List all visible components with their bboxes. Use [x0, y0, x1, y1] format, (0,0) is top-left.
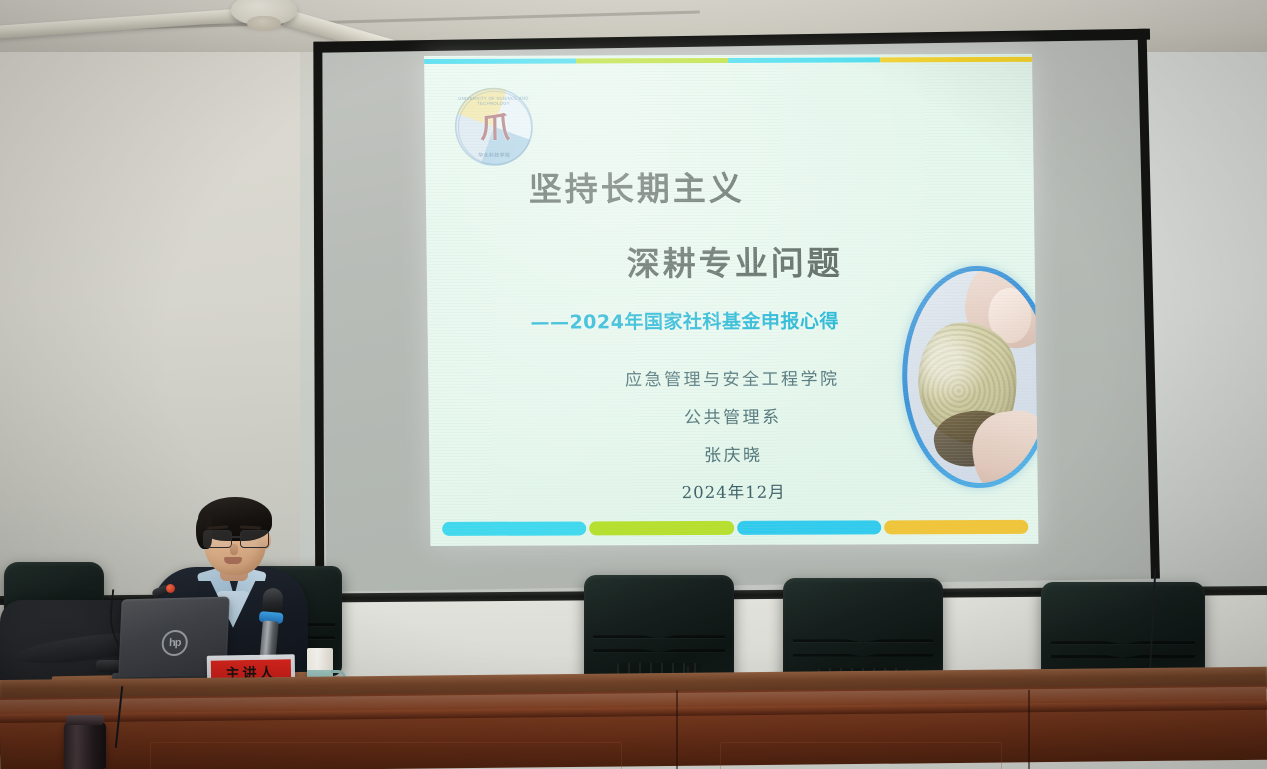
slide-bottom-color-bar [442, 520, 1028, 536]
slide-top-color-bar [424, 57, 1032, 64]
slide-title-line-1: 坚持长期主义 [528, 162, 745, 211]
top-bar-segment-4 [880, 57, 1032, 63]
fan-hub-lower [247, 16, 281, 31]
bottom-bar-segment-2 [589, 521, 733, 536]
bottom-bar-segment-4 [884, 520, 1028, 535]
top-bar-segment-3 [728, 57, 880, 63]
glasses-lens-left [203, 530, 232, 548]
top-bar-segment-1 [424, 58, 576, 64]
presenter-nose [230, 544, 238, 555]
top-bar-segment-2 [576, 58, 728, 64]
chair-stitch [1051, 641, 1195, 644]
presenter-mouth [224, 557, 242, 564]
bottom-bar-segment-1 [442, 521, 586, 536]
chair-stitch [793, 654, 934, 657]
bottom-bar-segment-3 [737, 520, 881, 535]
slide-info-presenter: 张庆晓 [429, 440, 1037, 467]
lecture-hall-photo: UNIVERSITY OF SCIENCE AND TECHNOLOGY 爪 华… [0, 0, 1267, 769]
table-panel [720, 742, 1002, 769]
table-panel [150, 742, 622, 769]
glasses-bridge [231, 536, 240, 538]
glasses-lens-right [240, 530, 269, 548]
table-seam [676, 690, 678, 769]
thermos-cap [66, 715, 104, 725]
projected-slide: UNIVERSITY OF SCIENCE AND TECHNOLOGY 爪 华… [424, 54, 1038, 546]
screen-border-left [313, 42, 324, 587]
hp-logo-icon: hp [161, 630, 188, 657]
logo-character: 爪 [480, 102, 509, 146]
university-logo: UNIVERSITY OF SCIENCE AND TECHNOLOGY 爪 华… [454, 88, 533, 166]
slide-info-department: 公共管理系 [429, 402, 1037, 429]
logo-arc-bottom-text: 华北科技学院 [455, 152, 533, 159]
chair-stitch [593, 635, 725, 638]
slide-info-college: 应急管理与安全工程学院 [428, 364, 1036, 391]
chair-stitch [1051, 655, 1195, 658]
slide-subtitle: ——2024年国家社科基金申报心得 [530, 307, 839, 335]
table-seam [1028, 690, 1030, 769]
thermos-flask [64, 722, 106, 769]
gooseneck-mic-indicator [166, 584, 175, 593]
slide-title-line-2: 深耕专业问题 [626, 237, 843, 286]
slide-info-date: 2024年12月 [430, 478, 1038, 504]
chair-stitch [793, 639, 934, 642]
chair-stitch [593, 649, 725, 652]
